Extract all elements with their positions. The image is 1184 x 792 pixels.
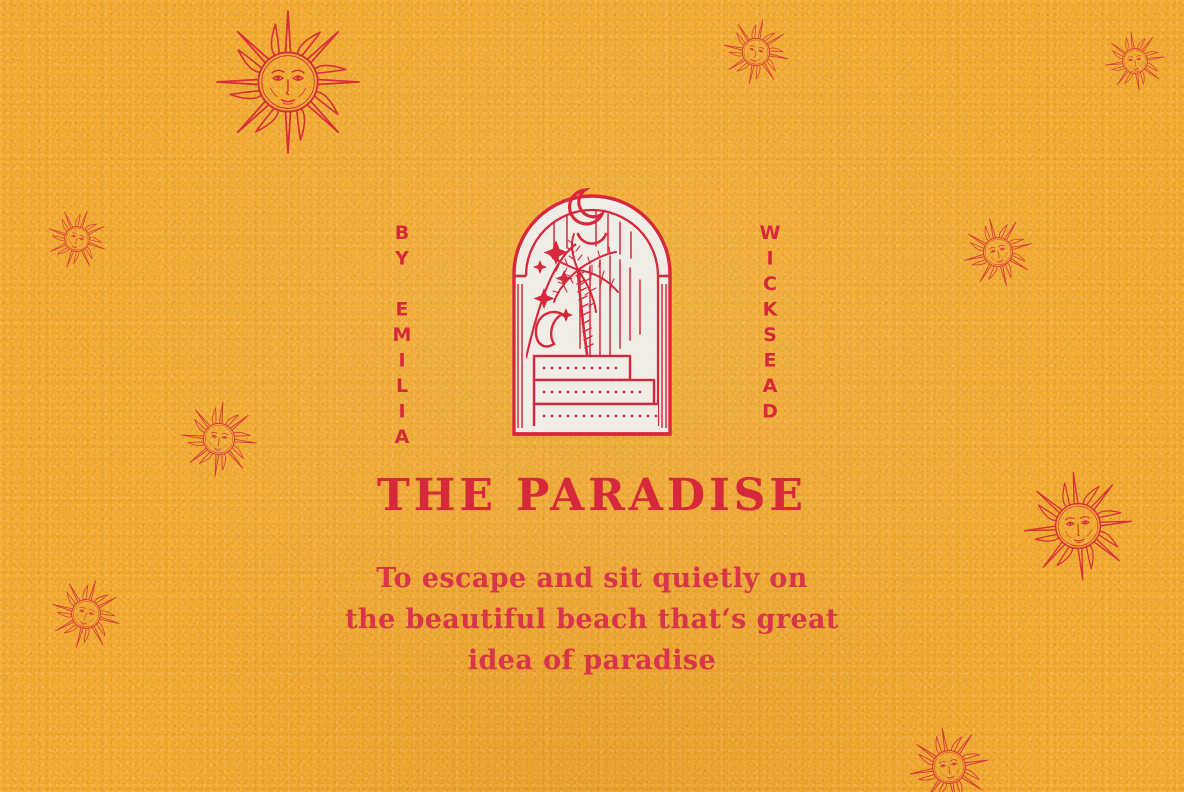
page-title: THE PARADISE — [0, 470, 1184, 521]
arch-paradise-emblem — [492, 148, 692, 448]
central-composition: BY EMILIA WICKSEAD THE PARADISE To escap… — [0, 0, 1184, 792]
tagline-line-1: To escape and sit quietly on — [0, 558, 1184, 599]
tagline-line-3: idea of paradise — [0, 640, 1184, 681]
tagline-line-2: the beautiful beach that‘s great — [0, 599, 1184, 640]
poster-canvas: BY EMILIA WICKSEAD THE PARADISE To escap… — [0, 0, 1184, 792]
byline-right: WICKSEAD — [760, 222, 779, 426]
tagline: To escape and sit quietly on the beautif… — [0, 558, 1184, 681]
byline-left: BY EMILIA — [392, 222, 411, 452]
